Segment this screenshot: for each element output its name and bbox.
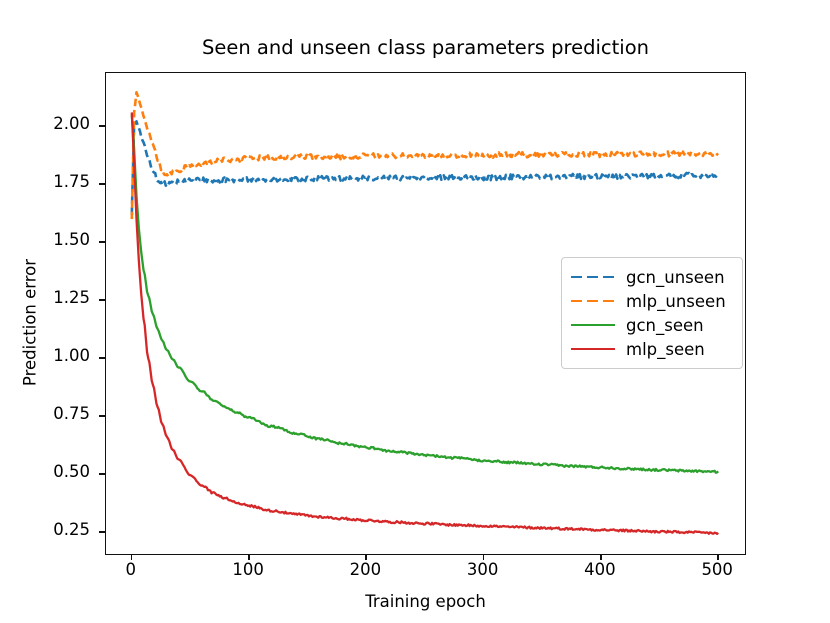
series-line-mlp-unseen [132, 92, 718, 219]
x-tick-label: 500 [677, 562, 757, 579]
legend-line-sample [571, 324, 615, 326]
y-tick-label: 2.00 [20, 116, 90, 133]
y-tick-label: 0.50 [20, 464, 90, 481]
chart-title: Seen and unseen class parameters predict… [105, 36, 746, 59]
legend-item-mlp-unseen: mlp_unseen [571, 289, 733, 313]
y-tick-mark [99, 531, 105, 533]
x-tick-label: 400 [560, 562, 640, 579]
y-axis-label: Prediction error [21, 233, 40, 413]
legend-item-gcn-unseen: gcn_unseen [571, 265, 733, 289]
x-axis-label: Training epoch [105, 592, 746, 611]
legend: gcn_unseen mlp_unseen gcn_seen mlp_seen [561, 257, 743, 369]
legend-item-gcn-seen: gcn_seen [571, 313, 733, 337]
x-tick-mark [717, 554, 719, 560]
legend-label-mlp-unseen: mlp_unseen [626, 292, 726, 311]
legend-item-mlp-seen: mlp_seen [571, 337, 733, 361]
legend-swatch-gcn-seen [571, 318, 615, 332]
legend-label-mlp-seen: mlp_seen [626, 340, 705, 359]
y-tick-mark [99, 473, 105, 475]
y-tick-mark [99, 357, 105, 359]
y-tick-mark [99, 241, 105, 243]
x-tick-mark [365, 554, 367, 560]
y-tick-label: 1.00 [20, 348, 90, 365]
y-tick-label: 1.50 [20, 232, 90, 249]
legend-line-sample [571, 276, 615, 278]
x-tick-label: 300 [443, 562, 523, 579]
x-tick-label: 0 [91, 562, 171, 579]
y-tick-label: 1.25 [20, 290, 90, 307]
legend-swatch-gcn-unseen [571, 270, 615, 284]
y-tick-mark [99, 299, 105, 301]
x-tick-mark [131, 554, 133, 560]
series-line-gcn-unseen [132, 121, 718, 214]
x-tick-mark [600, 554, 602, 560]
legend-line-sample [571, 348, 615, 350]
x-tick-label: 200 [325, 562, 405, 579]
y-tick-label: 0.75 [20, 406, 90, 423]
y-tick-label: 0.25 [20, 522, 90, 539]
x-tick-label: 100 [208, 562, 288, 579]
x-tick-mark [483, 554, 485, 560]
legend-swatch-mlp-seen [571, 342, 615, 356]
legend-label-gcn-seen: gcn_seen [626, 316, 704, 335]
y-tick-mark [99, 183, 105, 185]
legend-label-gcn-unseen: gcn_unseen [626, 268, 725, 287]
x-tick-mark [248, 554, 250, 560]
legend-swatch-mlp-unseen [571, 294, 615, 308]
y-tick-mark [99, 125, 105, 127]
matplotlib-figure: Seen and unseen class parameters predict… [0, 0, 830, 623]
legend-line-sample [571, 300, 615, 302]
y-tick-label: 1.75 [20, 174, 90, 191]
y-tick-mark [99, 415, 105, 417]
